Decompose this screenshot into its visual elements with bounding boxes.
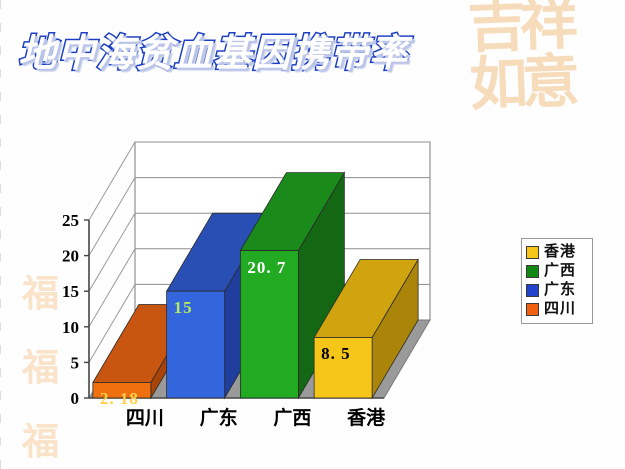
legend-color-swatch — [526, 284, 539, 297]
slide-canvas: 吉祥如意 福 福 福 地中海贫血基因携带率 0510152025四川广东广西香港… — [0, 0, 625, 469]
chart-legend: 香港广西广东四川 — [521, 238, 593, 324]
legend-color-swatch — [526, 246, 539, 259]
bar-front-face[interactable] — [314, 337, 372, 398]
x-axis-category-label: 广西 — [273, 406, 311, 429]
legend-item-label: 广西 — [544, 264, 576, 279]
gridline-depth — [89, 178, 135, 256]
gridline-depth — [89, 142, 135, 220]
y-axis-tick-label: 20 — [62, 247, 79, 266]
slide-title: 地中海贫血基因携带率 — [18, 26, 428, 80]
gridline-depth — [89, 213, 135, 291]
legend-item[interactable]: 广东 — [526, 281, 587, 300]
legend-color-swatch — [526, 303, 539, 316]
x-axis-category-label: 四川 — [126, 408, 164, 429]
legend-item-label: 香港 — [544, 245, 576, 260]
legend-item[interactable]: 香港 — [526, 243, 587, 262]
y-axis-tick-label: 10 — [62, 318, 79, 337]
legend-color-swatch — [526, 265, 539, 278]
legend-item[interactable]: 广西 — [526, 262, 587, 281]
gridline-depth — [89, 249, 135, 327]
legend-item-label: 广东 — [544, 283, 576, 298]
x-axis-category-label: 广东 — [200, 406, 238, 429]
corner-watermark-text: 吉祥如意 — [467, 0, 621, 115]
y-axis-tick-label: 0 — [71, 389, 80, 408]
y-axis-tick-label: 15 — [62, 282, 79, 301]
legend-item[interactable]: 四川 — [526, 300, 587, 319]
y-axis-tick-label: 5 — [71, 353, 80, 372]
bar-front-face[interactable] — [93, 382, 151, 398]
slide-title-text: 地中海贫血基因携带率 — [18, 26, 428, 80]
corner-watermark-icon: 吉祥如意 — [467, 0, 621, 125]
y-axis-tick-label: 25 — [62, 211, 79, 230]
bar-front-face[interactable] — [240, 251, 298, 398]
legend-item-label: 四川 — [544, 302, 576, 317]
x-axis-category-label: 香港 — [346, 407, 386, 429]
bar-front-face[interactable] — [167, 291, 225, 398]
